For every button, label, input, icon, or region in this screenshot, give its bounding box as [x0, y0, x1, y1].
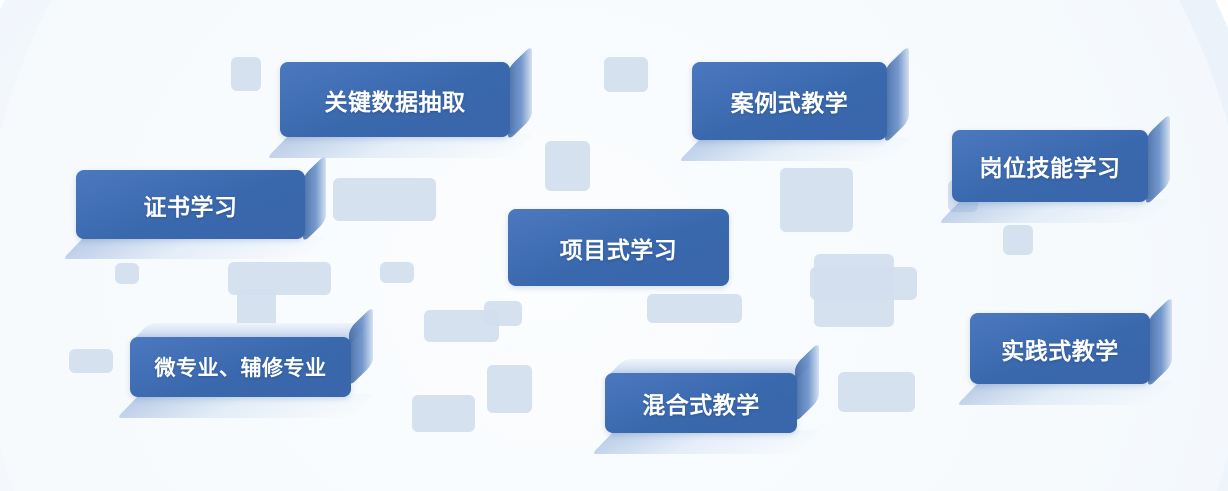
- card-front-face[interactable]: 微专业、辅修专业: [130, 337, 351, 397]
- decorative-tile: [115, 263, 139, 284]
- concept-card[interactable]: 项目式学习: [508, 209, 729, 286]
- decorative-tile: [604, 57, 648, 92]
- card-drop-shadow: [63, 236, 327, 259]
- decorative-tile: [487, 365, 532, 413]
- card-label: 混合式教学: [642, 386, 760, 420]
- concept-graphic-canvas: 关键数据抽取案例式教学岗位技能学习证书学习项目式学习微专业、辅修专业实践式教学混…: [0, 0, 1228, 491]
- concept-card[interactable]: 证书学习: [76, 170, 305, 239]
- decorative-tile: [412, 395, 475, 432]
- decorative-tile: [838, 372, 915, 412]
- card-front-face[interactable]: 项目式学习: [508, 209, 729, 286]
- card-front-face[interactable]: 混合式教学: [605, 373, 797, 433]
- card-drop-shadow: [957, 381, 1174, 405]
- concept-card[interactable]: 案例式教学: [692, 62, 887, 140]
- card-front-face[interactable]: 实践式教学: [970, 313, 1150, 384]
- concept-card[interactable]: 微专业、辅修专业: [130, 337, 351, 397]
- card-drop-shadow: [939, 199, 1172, 223]
- card-drop-shadow: [679, 137, 911, 161]
- concept-card[interactable]: 实践式教学: [970, 313, 1150, 384]
- card-label: 实践式教学: [1001, 332, 1119, 366]
- card-label: 岗位技能学习: [980, 149, 1121, 183]
- decorative-tile: [69, 349, 113, 373]
- card-front-face[interactable]: 案例式教学: [692, 62, 887, 140]
- decorative-tile: [231, 57, 261, 91]
- decorative-tile: [484, 301, 522, 326]
- concept-card[interactable]: 岗位技能学习: [952, 130, 1148, 202]
- decorative-tile: [814, 254, 894, 327]
- card-front-face[interactable]: 证书学习: [76, 170, 305, 239]
- card-drop-shadow: [117, 394, 375, 418]
- card-front-face[interactable]: 岗位技能学习: [952, 130, 1148, 202]
- decorative-tile: [647, 294, 742, 323]
- decorative-tile: [545, 141, 590, 191]
- card-label: 关键数据抽取: [325, 83, 466, 117]
- decorative-tile: [333, 178, 436, 221]
- card-drop-shadow: [267, 134, 534, 158]
- concept-card[interactable]: 关键数据抽取: [280, 62, 510, 137]
- decorative-tile: [1003, 225, 1033, 255]
- card-label: 案例式教学: [731, 84, 849, 118]
- card-drop-shadow: [592, 430, 821, 454]
- decorative-tile: [380, 262, 414, 283]
- concept-card[interactable]: 混合式教学: [605, 373, 797, 433]
- card-label: 证书学习: [144, 188, 238, 222]
- decorative-tile: [780, 168, 853, 232]
- card-front-face[interactable]: 关键数据抽取: [280, 62, 510, 137]
- card-label: 微专业、辅修专业: [155, 352, 327, 382]
- card-label: 项目式学习: [560, 231, 678, 265]
